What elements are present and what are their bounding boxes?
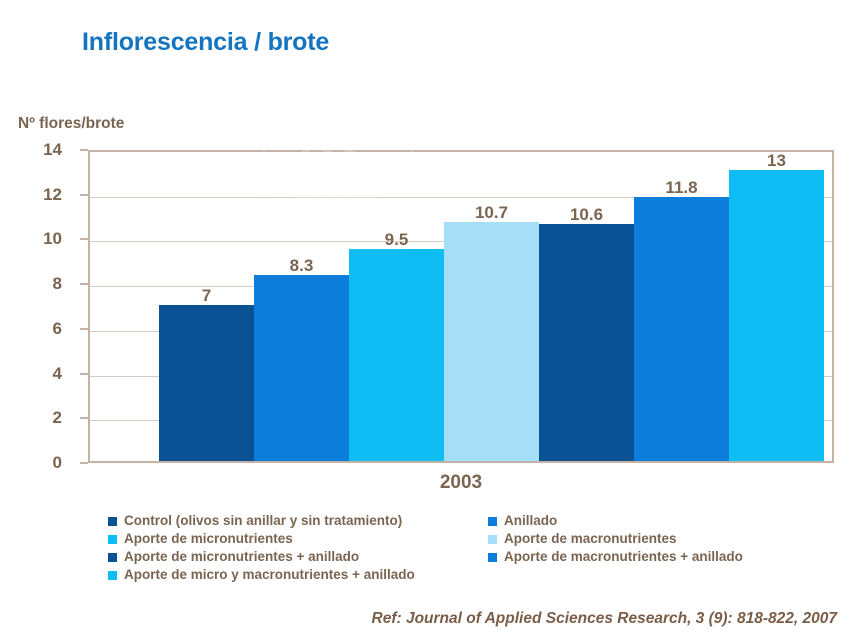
y-axis-tick-mark [80, 283, 88, 285]
legend-swatch-icon [108, 517, 117, 526]
legend-swatch-icon [488, 535, 497, 544]
legend-item[interactable]: Aporte de micronutrientes [108, 531, 488, 547]
footer-reference: Ref: Journal of Applied Sciences Researc… [372, 610, 837, 628]
bar [634, 197, 729, 461]
y-axis-tick-label: 4 [22, 364, 62, 384]
legend-item-label: Control (olivos sin anillar y sin tratam… [124, 513, 402, 529]
bar-value-label: 10.7 [444, 203, 539, 223]
legend-item[interactable]: Anillado [488, 513, 808, 529]
legend-item[interactable]: Aporte de micronutrientes + anillado [108, 549, 488, 565]
bar-value-label: 11.8 [634, 178, 729, 198]
y-axis-tick-mark [80, 149, 88, 151]
bar [729, 170, 824, 461]
bar [254, 275, 349, 461]
bar [444, 222, 539, 461]
page-title: Inflorescencia / brote [82, 28, 329, 57]
bar [539, 224, 634, 461]
legend-swatch-icon [108, 553, 117, 562]
legend-item[interactable]: Aporte de micro y macronutrientes + anil… [108, 567, 488, 583]
bar-value-label: 7 [159, 286, 254, 306]
y-axis-tick-mark [80, 238, 88, 240]
plot-area: 78.39.510.710.611.813 [88, 150, 834, 463]
legend-item-label: Anillado [504, 513, 557, 529]
bar [159, 305, 254, 462]
y-axis-tick-mark [80, 328, 88, 330]
y-axis-tick-mark [80, 194, 88, 196]
plot-inner: 78.39.510.710.611.813 [90, 152, 832, 461]
legend-column-right: AnilladoAporte de macronutrientesAporte … [488, 513, 808, 567]
bar [349, 249, 444, 461]
bar-value-label: 8.3 [254, 256, 349, 276]
bar-value-label: 9.5 [349, 230, 444, 250]
y-axis-tick-mark [80, 462, 88, 464]
y-axis-tick-label: 6 [22, 319, 62, 339]
legend-item[interactable]: Control (olivos sin anillar y sin tratam… [108, 513, 488, 529]
y-axis-tick-label: 10 [22, 229, 62, 249]
y-axis-tick-mark [80, 417, 88, 419]
legend-item[interactable]: Aporte de macronutrientes [488, 531, 808, 547]
y-axis-tick-label: 2 [22, 408, 62, 428]
legend-item-label: Aporte de micro y macronutrientes + anil… [124, 567, 415, 583]
legend-item-label: Aporte de macronutrientes + anillado [504, 549, 743, 565]
legend-item-label: Aporte de micronutrientes + anillado [124, 549, 359, 565]
legend-swatch-icon [488, 553, 497, 562]
legend-item-label: Aporte de micronutrientes [124, 531, 293, 547]
legend-item[interactable]: Aporte de macronutrientes + anillado [488, 549, 808, 565]
slide-canvas: Inflorescencia / brote Nº flores/brote 0… [0, 0, 855, 643]
y-axis-tick-label: 0 [22, 453, 62, 473]
legend-swatch-icon [108, 535, 117, 544]
y-axis-tick-label: 12 [22, 185, 62, 205]
legend-item-label: Aporte de macronutrientes [504, 531, 677, 547]
y-axis-tick-label: 14 [22, 140, 62, 160]
bar-value-label: 13 [729, 152, 824, 171]
legend-swatch-icon [108, 571, 117, 580]
y-axis-tick-label: 8 [22, 274, 62, 294]
legend-column-left: Control (olivos sin anillar y sin tratam… [108, 513, 488, 585]
bar-value-label: 10.6 [539, 205, 634, 225]
y-axis-title: Nº flores/brote [18, 115, 124, 133]
legend-swatch-icon [488, 517, 497, 526]
y-axis-tick-mark [80, 373, 88, 375]
x-axis-category-label: 2003 [88, 472, 834, 494]
